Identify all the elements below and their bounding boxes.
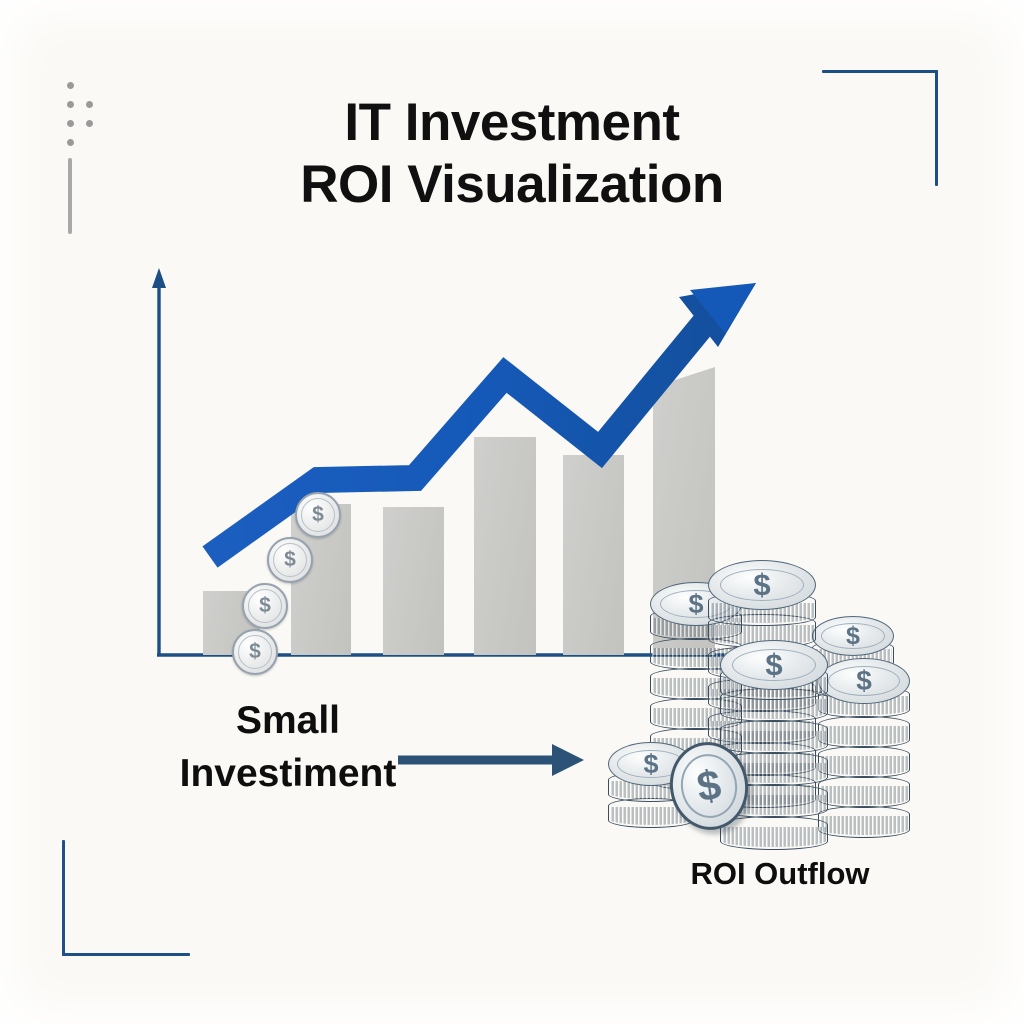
coin-face-icon: $ [708, 560, 816, 610]
coin-symbol: $ [643, 749, 658, 780]
coin-symbol: $ [688, 589, 703, 620]
coin-symbol: $ [284, 548, 296, 572]
coin-symbol: $ [753, 567, 770, 603]
label-small-investment-line-2: Investiment [180, 752, 397, 795]
coin-symbol: $ [856, 665, 872, 697]
coin-symbol: $ [249, 640, 261, 664]
label-small-investment: Small Investiment [138, 694, 438, 800]
coin-icon: $ [267, 537, 313, 583]
coin-face-icon: $ [720, 640, 828, 690]
infographic-canvas: IT Investment ROI Visualization [0, 0, 1024, 1024]
coin-face-icon: $ [818, 658, 910, 704]
coin-symbol: $ [846, 622, 860, 651]
coin-icon: $ [295, 492, 341, 538]
coin-symbol: $ [694, 760, 725, 811]
coin-symbol: $ [765, 647, 782, 683]
label-roi-outflow: ROI Outflow [620, 856, 940, 892]
coin-stack-right: $ [818, 650, 910, 860]
coin-symbol: $ [259, 594, 271, 618]
coin-symbol: $ [312, 503, 324, 527]
coin-icon: $ [242, 583, 288, 629]
label-small-investment-line-1: Small [236, 699, 340, 742]
coin-icon: $ [232, 629, 278, 675]
